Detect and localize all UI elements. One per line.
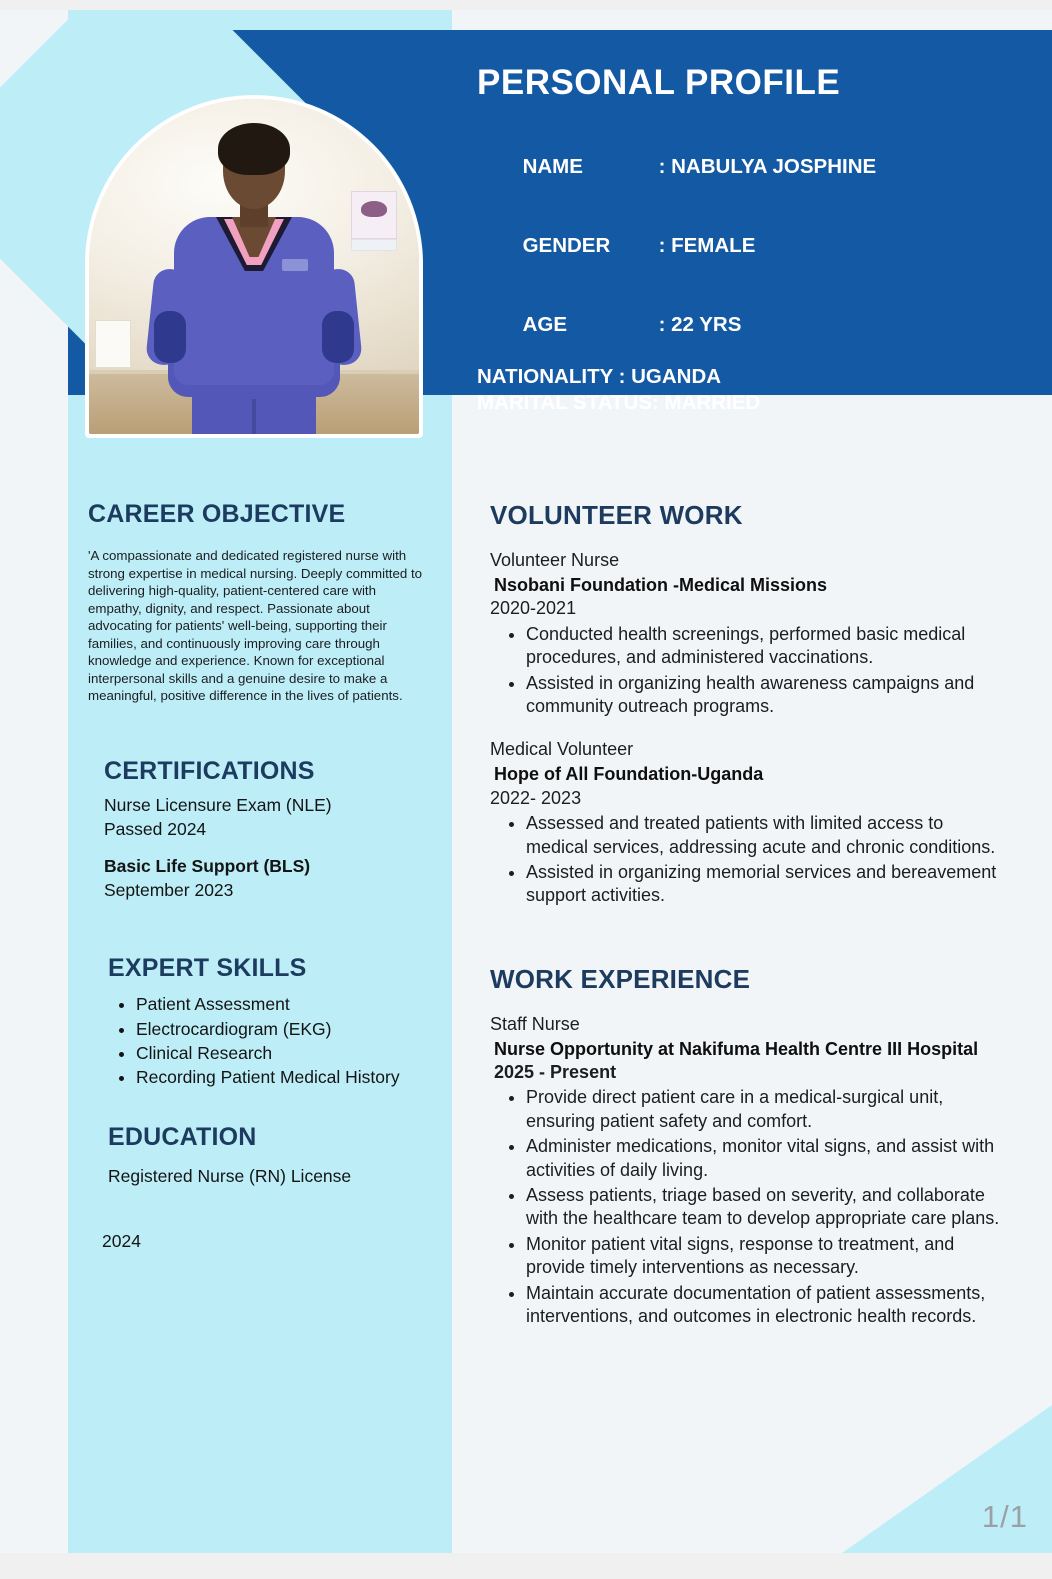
entry-organization: Hope of All Foundation-Uganda	[490, 762, 1010, 786]
list-item: Conducted health screenings, performed b…	[526, 623, 1010, 670]
profile-label-name: NAME	[523, 154, 659, 180]
entry-dates: 2020-2021	[490, 597, 1010, 620]
profile-value-name: NABULYA JOSPHINE	[671, 155, 876, 178]
entry-bullet-list: Conducted health screenings, performed b…	[490, 623, 1010, 719]
entry-role: Staff Nurse	[490, 1011, 1010, 1037]
photo-person-leg-split	[252, 399, 256, 434]
profile-photo	[89, 99, 419, 434]
work-entry: Staff Nurse Nurse Opportunity at Nakifum…	[490, 1011, 1010, 1329]
career-objective-text: 'A compassionate and dedicated registere…	[88, 547, 433, 705]
volunteer-work-heading: VOLUNTEER WORK	[490, 500, 1010, 531]
expert-skills-heading: EXPERT SKILLS	[108, 954, 433, 983]
list-item: Provide direct patient care in a medical…	[526, 1086, 1010, 1133]
certification-date: September 2023	[104, 879, 433, 903]
list-item: Recording Patient Medical History	[136, 1066, 433, 1089]
photo-person-right-sleeve	[322, 311, 354, 363]
page-title: PERSONAL PROFILE	[477, 65, 1037, 100]
list-item: Administer medications, monitor vital si…	[526, 1135, 1010, 1182]
list-item: Patient Assessment	[136, 993, 433, 1016]
right-column: VOLUNTEER WORK Volunteer Nurse Nsobani F…	[490, 500, 1010, 1346]
profile-separator-age: :	[659, 313, 672, 336]
certification-date: Passed 2024	[104, 818, 433, 842]
list-item: Maintain accurate documentation of patie…	[526, 1282, 1010, 1329]
education-heading: EDUCATION	[108, 1123, 433, 1152]
career-objective-heading: CAREER OBJECTIVE	[88, 500, 433, 529]
photo-wall-poster-icon	[351, 191, 397, 239]
list-item: Electrocardiogram (EKG)	[136, 1018, 433, 1041]
profile-separator-name: :	[659, 155, 672, 178]
profile-value-gender: FEMALE	[671, 234, 755, 257]
list-item: Clinical Research	[136, 1042, 433, 1065]
list-item: Assisted in organizing health awareness …	[526, 672, 1010, 719]
list-item: Assisted in organizing memorial services…	[526, 861, 1010, 908]
entry-organization: Nurse Opportunity at Nakifuma Health Cen…	[490, 1037, 1010, 1061]
certifications-heading: CERTIFICATIONS	[104, 757, 433, 786]
entry-organization: Nsobani Foundation -Medical Missions	[490, 573, 1010, 597]
profile-field-marital-status: MARITAL STATUS: MARRIED	[477, 390, 1037, 416]
certification-item: Nurse Licensure Exam (NLE) Passed 2024	[104, 794, 433, 841]
profile-value-age: 22 YRS	[671, 313, 741, 336]
photo-paper-stack	[95, 320, 131, 368]
left-column: CAREER OBJECTIVE 'A compassionate and de…	[88, 500, 433, 1252]
document-sheet: PERSONAL PROFILE NAME: NABULYA JOSPHINE …	[0, 10, 1052, 1553]
expert-skills-list: Patient Assessment Electrocardiogram (EK…	[108, 993, 433, 1088]
list-item: Assessed and treated patients with limit…	[526, 812, 1010, 859]
photo-person-hair	[218, 123, 290, 175]
page-indicator: 1/1	[982, 1499, 1028, 1535]
profile-label-gender: GENDER	[523, 233, 659, 259]
photo-person-left-sleeve	[154, 311, 186, 363]
profile-label-age: AGE	[523, 312, 659, 338]
profile-field-gender: GENDER: FEMALE	[477, 207, 1037, 286]
resume-page: PERSONAL PROFILE NAME: NABULYA JOSPHINE …	[0, 0, 1052, 1579]
certification-name: Basic Life Support (BLS)	[104, 855, 433, 879]
work-experience-heading: WORK EXPERIENCE	[490, 964, 1010, 995]
profile-separator-gender: :	[659, 234, 672, 257]
list-item: Monitor patient vital signs, response to…	[526, 1233, 1010, 1280]
profile-photo-frame	[85, 95, 423, 438]
photo-wall-label-icon	[351, 239, 397, 251]
entry-bullet-list: Assessed and treated patients with limit…	[490, 812, 1010, 908]
entry-role: Medical Volunteer	[490, 736, 1010, 762]
entry-dates: 2025 - Present	[490, 1061, 1010, 1084]
list-item: Assess patients, triage based on severit…	[526, 1184, 1010, 1231]
volunteer-entry: Volunteer Nurse Nsobani Foundation -Medi…	[490, 547, 1010, 718]
profile-field-nationality: NATIONALITY : UGANDA	[477, 364, 1037, 390]
volunteer-entry: Medical Volunteer Hope of All Foundation…	[490, 736, 1010, 907]
photo-person-badge	[282, 259, 308, 271]
entry-bullet-list: Provide direct patient care in a medical…	[490, 1086, 1010, 1328]
education-qualification: Registered Nurse (RN) License	[108, 1166, 433, 1187]
personal-profile-section: PERSONAL PROFILE NAME: NABULYA JOSPHINE …	[477, 65, 1037, 417]
certification-name: Nurse Licensure Exam (NLE)	[104, 794, 433, 818]
certification-item: Basic Life Support (BLS) September 2023	[104, 855, 433, 902]
education-year: 2024	[102, 1231, 433, 1252]
entry-dates: 2022- 2023	[490, 787, 1010, 810]
profile-field-age: AGE: 22 YRS	[477, 285, 1037, 364]
entry-role: Volunteer Nurse	[490, 547, 1010, 573]
profile-field-name: NAME: NABULYA JOSPHINE	[477, 128, 1037, 207]
